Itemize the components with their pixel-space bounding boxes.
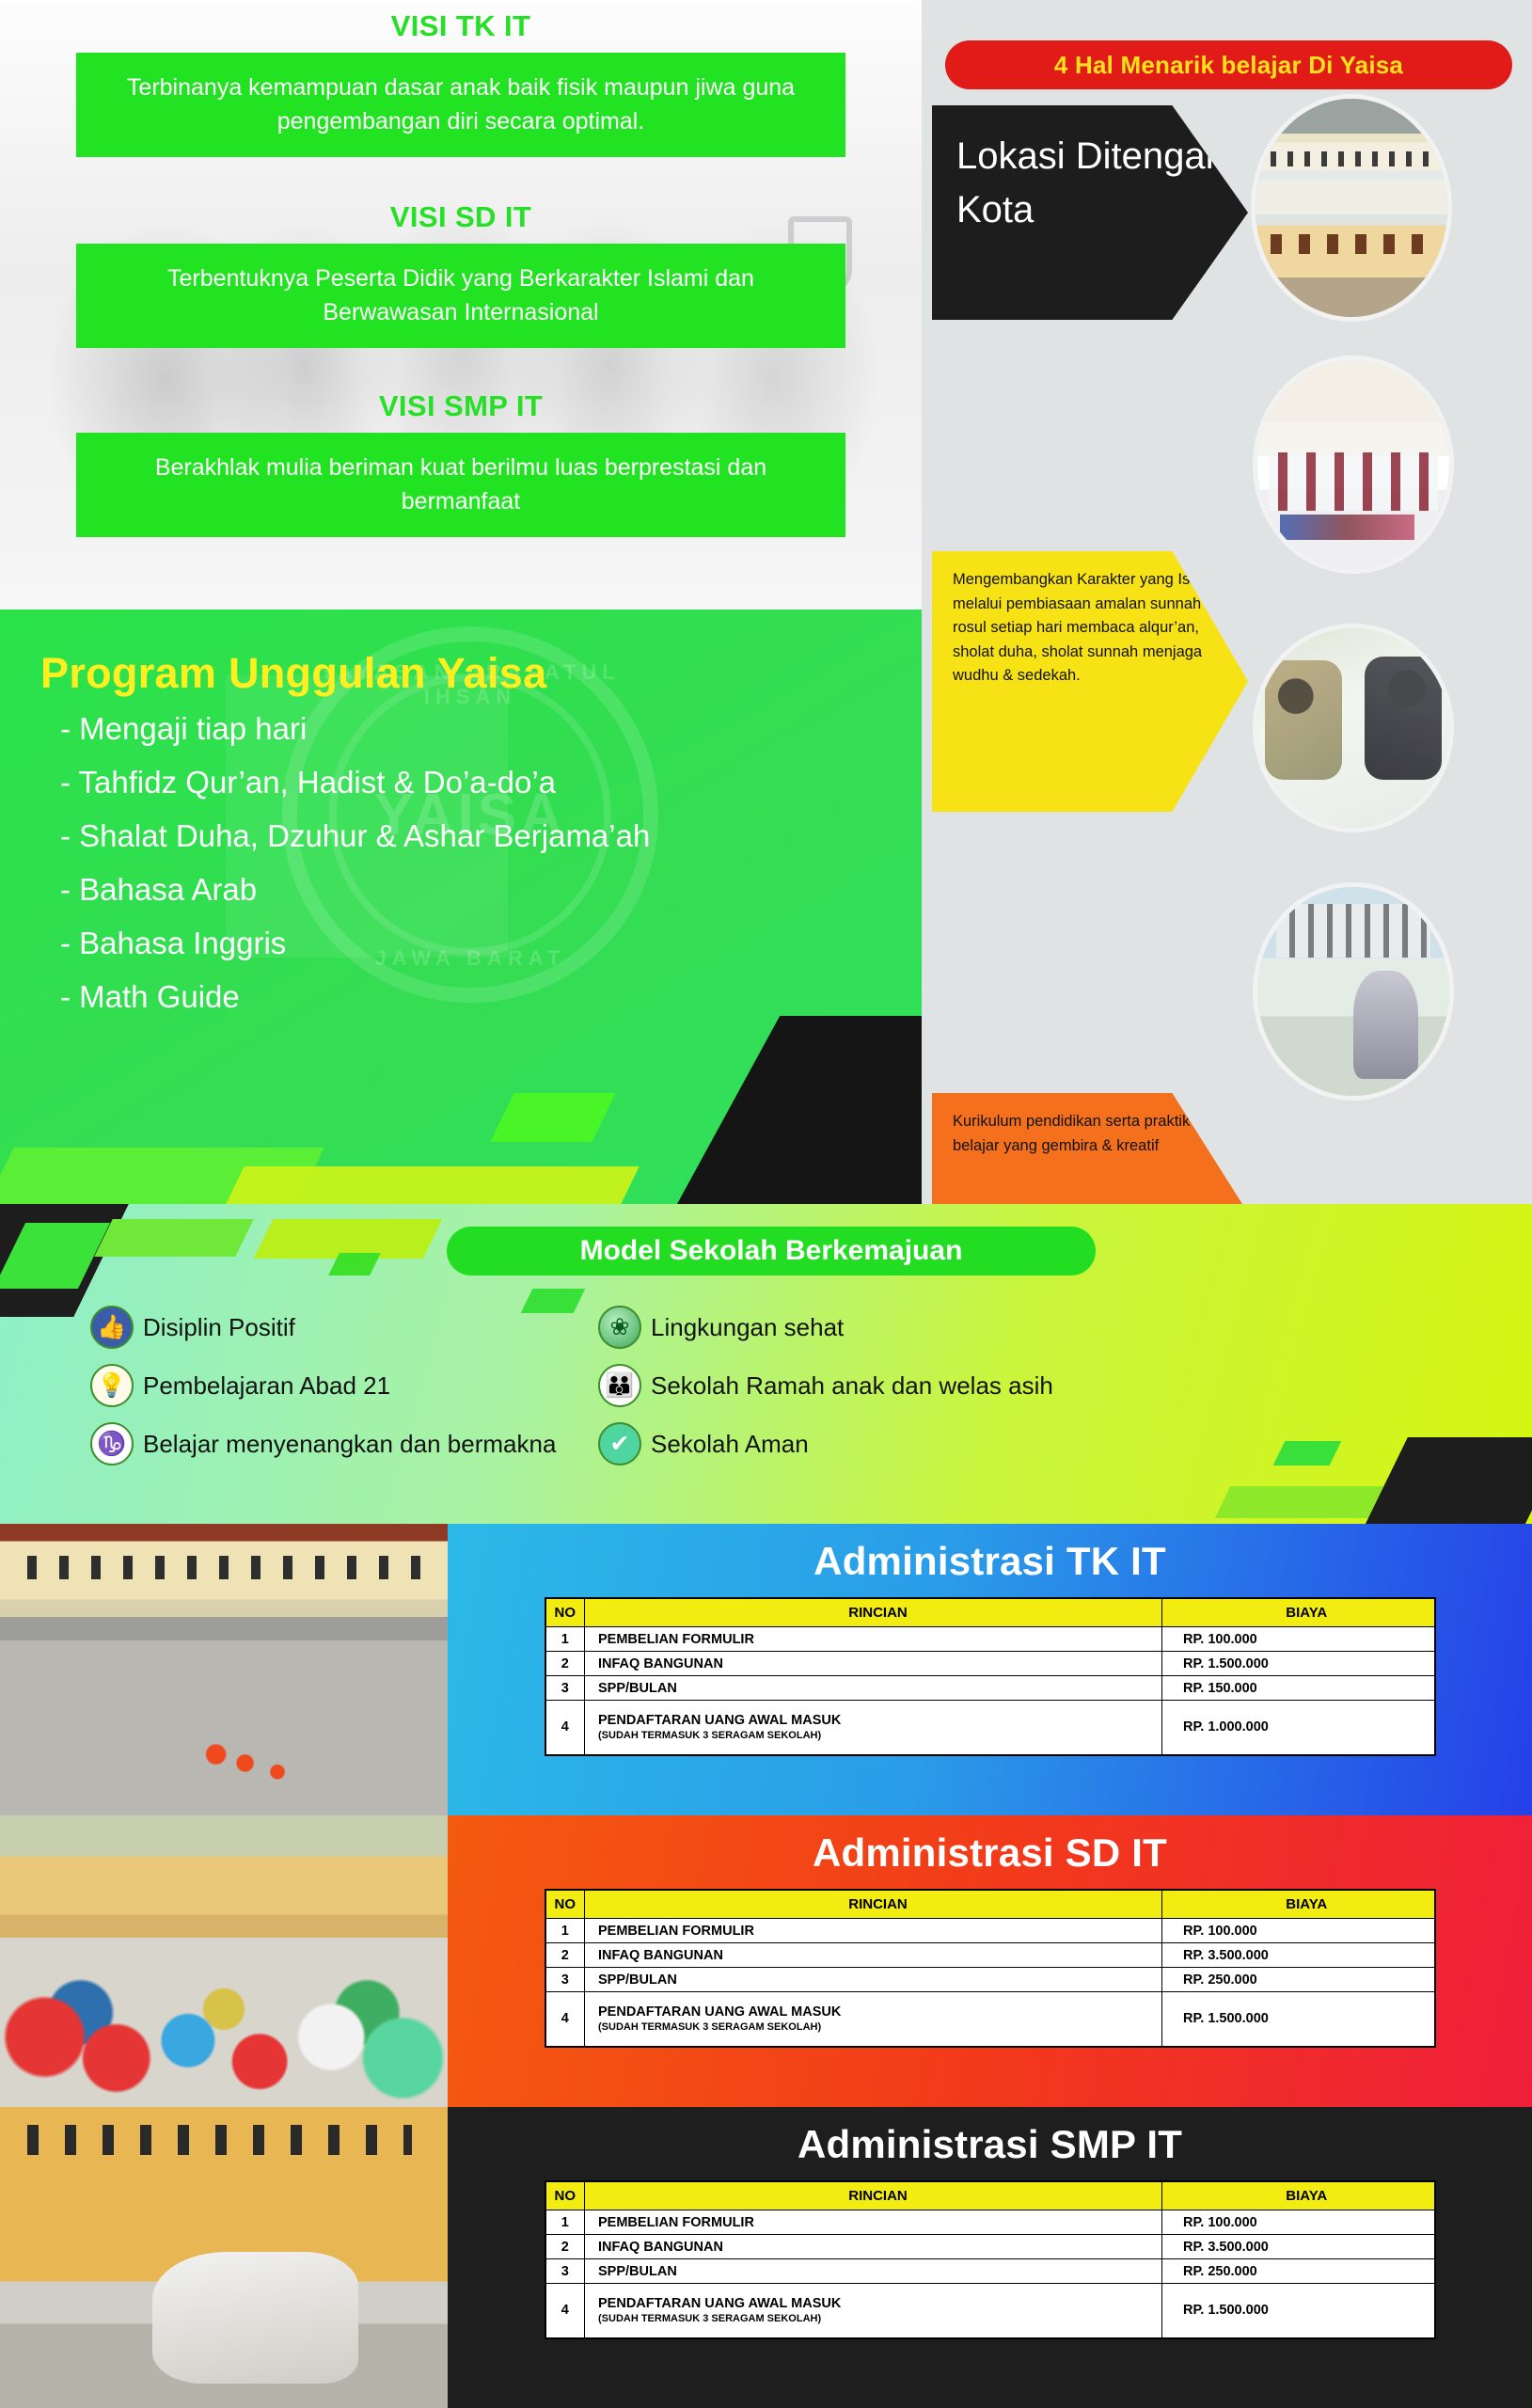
- cell-desc-sub: (SUDAH TERMASUK 3 SERAGAM SEKOLAH): [598, 2021, 1156, 2033]
- lightbulb-icon: 💡: [90, 1364, 134, 1407]
- table-row: 4 PENDAFTARAN UANG AWAL MASUK (SUDAH TER…: [545, 1701, 1435, 1755]
- cell-no: 2: [545, 1652, 585, 1676]
- cell-desc: SPP/BULAN: [585, 2259, 1162, 2284]
- cell-desc: PEMBELIAN FORMULIR: [585, 1627, 1162, 1652]
- list-item: - Bahasa Inggris: [60, 927, 922, 958]
- list-item: - Mengaji tiap hari: [60, 713, 922, 744]
- fee-table: NO RINCIAN BIAYA 1 PEMBELIAN FORMULIR RP…: [545, 2180, 1436, 2339]
- column-header-biaya: BIAYA: [1162, 1598, 1435, 1627]
- visi-sd-text: Terbentuknya Peserta Didik yang Berkarak…: [76, 244, 845, 348]
- decorative-shape: [94, 1219, 254, 1257]
- cell-desc-main: PENDAFTARAN UANG AWAL MASUK: [598, 2296, 841, 2311]
- column-header-no: NO: [545, 2181, 585, 2210]
- soccer-training-photo: [0, 1524, 448, 1815]
- cell-no: 3: [545, 1676, 585, 1701]
- list-item: - Shalat Duha, Dzuhur & Ashar Berjama’ah: [60, 820, 922, 851]
- list-item: - Math Guide: [60, 981, 922, 1012]
- model-feature-grid: 👍 Disiplin Positif ❀ Lingkungan sehat 💡 …: [0, 1306, 1532, 1465]
- fee-table: NO RINCIAN BIAYA 1 PEMBELIAN FORMULIR RP…: [545, 1889, 1436, 2048]
- page-title: Administrasi SD IT: [448, 1815, 1532, 1876]
- table-row: 3 SPP/BULAN RP. 150.000: [545, 1676, 1435, 1701]
- feature-disiplin-positif: 👍 Disiplin Positif: [90, 1306, 598, 1349]
- cell-desc-main: PENDAFTARAN UANG AWAL MASUK: [598, 1713, 841, 1728]
- feature-pembelajaran-abad-21: 💡 Pembelajaran Abad 21: [90, 1364, 598, 1407]
- cell-desc: SPP/BULAN: [585, 1968, 1162, 1992]
- column-header-biaya: BIAYA: [1162, 1890, 1435, 1919]
- table-row: 1 PEMBELIAN FORMULIR RP. 100.000: [545, 2210, 1435, 2235]
- cell-cost: RP. 100.000: [1162, 1919, 1435, 1943]
- celebrating-people-icon: ♑: [90, 1422, 134, 1465]
- cell-cost: RP. 3.500.000: [1162, 1943, 1435, 1968]
- visi-section: VISI TK IT Terbinanya kemampuan dasar an…: [0, 0, 922, 610]
- page-title: Administrasi SMP IT: [448, 2107, 1532, 2167]
- visi-tk-title: VISI TK IT: [0, 9, 922, 43]
- cell-no: 3: [545, 1968, 585, 1992]
- cell-cost: RP. 100.000: [1162, 1627, 1435, 1652]
- table-row: 3 SPP/BULAN RP. 250.000: [545, 1968, 1435, 1992]
- fee-table: NO RINCIAN BIAYA 1 PEMBELIAN FORMULIR RP…: [545, 1597, 1436, 1756]
- cell-desc: PEMBELIAN FORMULIR: [585, 2210, 1162, 2235]
- table-header-row: NO RINCIAN BIAYA: [545, 1890, 1435, 1919]
- table-row: 1 PEMBELIAN FORMULIR RP. 100.000: [545, 1919, 1435, 1943]
- cell-cost: RP. 1.500.000: [1162, 2284, 1435, 2338]
- column-header-no: NO: [545, 1598, 585, 1627]
- cell-cost: RP. 1.500.000: [1162, 1992, 1435, 2047]
- feature-label: Lingkungan sehat: [651, 1313, 844, 1342]
- table-row: 2 INFAQ BANGUNAN RP. 3.500.000: [545, 2235, 1435, 2259]
- column-header-rincian: RINCIAN: [585, 1598, 1162, 1627]
- shield-check-icon: ✔: [598, 1422, 641, 1465]
- column-header-rincian: RINCIAN: [585, 1890, 1162, 1919]
- cell-no: 4: [545, 1992, 585, 2047]
- visi-sd-title: VISI SD IT: [0, 200, 922, 234]
- administrasi-smp-section: Administrasi SMP IT NO RINCIAN BIAYA 1 P…: [0, 2107, 1532, 2408]
- model-sekolah-section: Model Sekolah Berkemajuan 👍 Disiplin Pos…: [0, 1204, 1532, 1524]
- page-title: Administrasi TK IT: [448, 1524, 1532, 1584]
- cell-no: 1: [545, 1919, 585, 1943]
- feature-label: Sekolah Aman: [651, 1430, 809, 1459]
- visi-smp-title: VISI SMP IT: [0, 389, 922, 423]
- cell-cost: RP. 1.000.000: [1162, 1701, 1435, 1755]
- table-row: 4 PENDAFTARAN UANG AWAL MASUK (SUDAH TER…: [545, 1992, 1435, 2047]
- cell-desc: PENDAFTARAN UANG AWAL MASUK (SUDAH TERMA…: [585, 2284, 1162, 2338]
- list-item: - Tahfidz Qur’an, Hadist & Do’a-do’a: [60, 767, 922, 798]
- cell-cost: RP. 100.000: [1162, 2210, 1435, 2235]
- decorative-black-shape: [677, 1016, 922, 1204]
- school-building-photo: [1251, 94, 1452, 322]
- archery-photo: [1253, 882, 1454, 1101]
- feature-lingkungan-sehat: ❀ Lingkungan sehat: [598, 1306, 1532, 1349]
- horse-archery-photo: [0, 2107, 448, 2408]
- students-praying-photo: [1253, 356, 1454, 574]
- column-header-no: NO: [545, 1890, 585, 1919]
- administrasi-tk-section: Administrasi TK IT NO RINCIAN BIAYA 1 PE…: [0, 1524, 1532, 1815]
- classroom-activity-photo: [1253, 624, 1454, 832]
- cell-desc: PENDAFTARAN UANG AWAL MASUK (SUDAH TERMA…: [585, 1701, 1162, 1755]
- administrasi-sd-panel: Administrasi SD IT NO RINCIAN BIAYA 1 PE…: [448, 1815, 1532, 2107]
- cell-cost: RP. 1.500.000: [1162, 1652, 1435, 1676]
- family-icon: 👪: [598, 1364, 641, 1407]
- cell-no: 4: [545, 2284, 585, 2338]
- cell-desc: INFAQ BANGUNAN: [585, 1943, 1162, 1968]
- table-row: 3 SPP/BULAN RP. 250.000: [545, 2259, 1435, 2284]
- globe-plant-icon: ❀: [598, 1306, 641, 1349]
- cell-no: 1: [545, 2210, 585, 2235]
- visi-smp-text: Berakhlak mulia beriman kuat berilmu lua…: [76, 433, 845, 537]
- cell-no: 1: [545, 1627, 585, 1652]
- cell-desc: INFAQ BANGUNAN: [585, 1652, 1162, 1676]
- cell-cost: RP. 3.500.000: [1162, 2235, 1435, 2259]
- students-group-photo: [0, 1815, 448, 2107]
- cell-no: 2: [545, 2235, 585, 2259]
- hal-menarik-section: 4 Hal Menarik belajar Di Yaisa Lokasi Di…: [922, 0, 1532, 1204]
- cell-no: 4: [545, 1701, 585, 1755]
- program-list: - Mengaji tiap hari - Tahfidz Qur’an, Ha…: [0, 704, 922, 1012]
- program-title: Program Unggulan Yaisa: [0, 610, 922, 704]
- cell-no: 2: [545, 1943, 585, 1968]
- cell-desc-sub: (SUDAH TERMASUK 3 SERAGAM SEKOLAH): [598, 1730, 1156, 1741]
- table-header-row: NO RINCIAN BIAYA: [545, 2181, 1435, 2210]
- feature-sekolah-ramah-anak: 👪 Sekolah Ramah anak dan welas asih: [598, 1364, 1532, 1407]
- poster-root: VISI TK IT Terbinanya kemampuan dasar an…: [0, 0, 1532, 2408]
- decorative-parallelogram: [226, 1166, 640, 1204]
- cell-desc: PEMBELIAN FORMULIR: [585, 1919, 1162, 1943]
- hal-item-karakter: Mengembangkan Karakter yang Islami melal…: [932, 551, 1248, 812]
- visi-tk-text: Terbinanya kemampuan dasar anak baik fis…: [76, 53, 845, 157]
- column-header-biaya: BIAYA: [1162, 2181, 1435, 2210]
- column-header-rincian: RINCIAN: [585, 2181, 1162, 2210]
- cell-desc-sub: (SUDAH TERMASUK 3 SERAGAM SEKOLAH): [598, 2313, 1156, 2324]
- thumbs-up-icon: 👍: [90, 1306, 134, 1349]
- feature-sekolah-aman: ✔ Sekolah Aman: [598, 1422, 1532, 1465]
- cell-desc: INFAQ BANGUNAN: [585, 2235, 1162, 2259]
- table-row: 2 INFAQ BANGUNAN RP. 1.500.000: [545, 1652, 1435, 1676]
- model-sekolah-title: Model Sekolah Berkemajuan: [447, 1227, 1096, 1275]
- feature-belajar-menyenangkan: ♑ Belajar menyenangkan dan bermakna: [90, 1422, 598, 1465]
- feature-label: Pembelajaran Abad 21: [143, 1371, 390, 1401]
- table-row: 4 PENDAFTARAN UANG AWAL MASUK (SUDAH TER…: [545, 2284, 1435, 2338]
- cell-cost: RP. 250.000: [1162, 2259, 1435, 2284]
- feature-label: Sekolah Ramah anak dan welas asih: [651, 1371, 1053, 1401]
- administrasi-tk-panel: Administrasi TK IT NO RINCIAN BIAYA 1 PE…: [448, 1524, 1532, 1815]
- list-item: - Bahasa Arab: [60, 874, 922, 905]
- cell-desc: SPP/BULAN: [585, 1676, 1162, 1701]
- administrasi-sd-section: Administrasi SD IT NO RINCIAN BIAYA 1 PE…: [0, 1815, 1532, 2107]
- table-row: 2 INFAQ BANGUNAN RP. 3.500.000: [545, 1943, 1435, 1968]
- cell-desc: PENDAFTARAN UANG AWAL MASUK (SUDAH TERMA…: [585, 1992, 1162, 2047]
- decorative-parallelogram: [490, 1093, 615, 1142]
- cell-no: 3: [545, 2259, 585, 2284]
- feature-label: Disiplin Positif: [143, 1313, 295, 1342]
- cell-desc-main: PENDAFTARAN UANG AWAL MASUK: [598, 2004, 841, 2020]
- cell-cost: RP. 250.000: [1162, 1968, 1435, 1992]
- feature-label: Belajar menyenangkan dan bermakna: [143, 1430, 556, 1459]
- table-header-row: NO RINCIAN BIAYA: [545, 1598, 1435, 1627]
- cell-cost: RP. 150.000: [1162, 1676, 1435, 1701]
- administrasi-smp-panel: Administrasi SMP IT NO RINCIAN BIAYA 1 P…: [448, 2107, 1532, 2408]
- table-row: 1 PEMBELIAN FORMULIR RP. 100.000: [545, 1627, 1435, 1652]
- hal-menarik-badge: 4 Hal Menarik belajar Di Yaisa: [945, 40, 1512, 89]
- hal-item-lokasi: Lokasi Ditengah Kota: [932, 105, 1248, 320]
- program-unggulan-section: YAYASAN ARAFATUL IHSAN YAISA JAWA BARAT …: [0, 610, 922, 1204]
